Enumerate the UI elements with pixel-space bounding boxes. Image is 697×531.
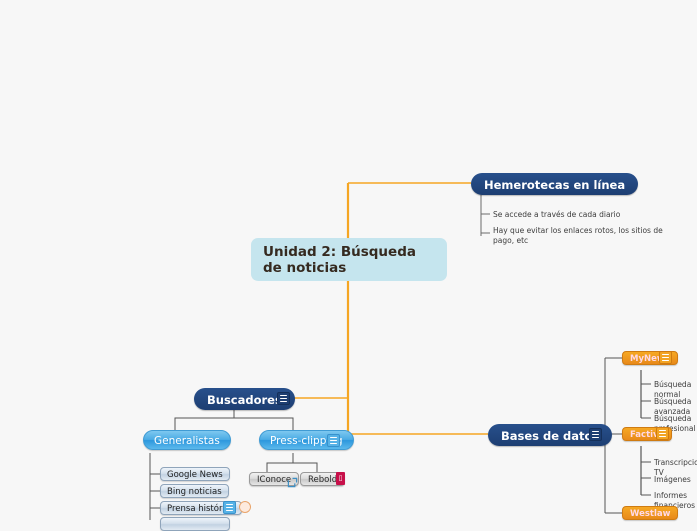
node-generalistas[interactable]: Generalistas [143,430,231,450]
node-label: Generalistas [154,435,220,447]
node-label: Westlaw [630,509,670,519]
node-label: Google News [167,470,223,480]
leaf-label: Transcripciones TV [654,458,697,477]
node-label: Bing noticias [167,487,222,497]
circle-icon[interactable] [239,501,251,513]
node-generalistas-extra[interactable] [160,517,230,531]
node-label: Hemerotecas en línea [484,178,625,192]
note-icon[interactable] [327,434,340,447]
node-hemerotecas-en-linea[interactable]: Hemerotecas en línea [471,173,638,195]
note-icon[interactable] [656,427,669,440]
leaf-label: Búsqueda normal [654,380,691,399]
mindmap-canvas: Unidad 2: Búsqueda de noticias Hemerotec… [0,0,697,520]
leaf-label: Hay que evitar los enlaces rotos, los si… [493,226,663,245]
note-icon[interactable] [659,351,672,364]
leaf-factiva-1[interactable]: Imágenes [654,475,697,485]
node-label: Rebold [308,475,337,485]
leaf-label: Se accede a través de cada diario [493,210,620,219]
note-icon[interactable] [589,428,602,441]
note-icon[interactable] [223,501,236,514]
leaf-hemerotecas-1[interactable]: Hay que evitar los enlaces rotos, los si… [493,226,673,245]
node-bing-noticias[interactable]: Bing noticias [160,484,229,498]
root-node[interactable]: Unidad 2: Búsqueda de noticias [251,238,447,281]
root-label: Unidad 2: Búsqueda de noticias [263,244,416,276]
note-icon[interactable] [277,392,290,405]
external-link-icon[interactable] [287,473,298,484]
leaf-label: Búsqueda avanzada [654,397,691,416]
node-google-news[interactable]: Google News [160,467,230,481]
node-label: Bases de datos [501,429,599,443]
node-westlaw[interactable]: Westlaw [622,506,678,520]
leaf-hemerotecas-0[interactable]: Se accede a través de cada diario [493,210,683,220]
node-label: Buscadores [207,393,282,407]
attachment-icon[interactable]: ▯ [336,472,345,485]
leaf-label: Imágenes [654,475,691,484]
